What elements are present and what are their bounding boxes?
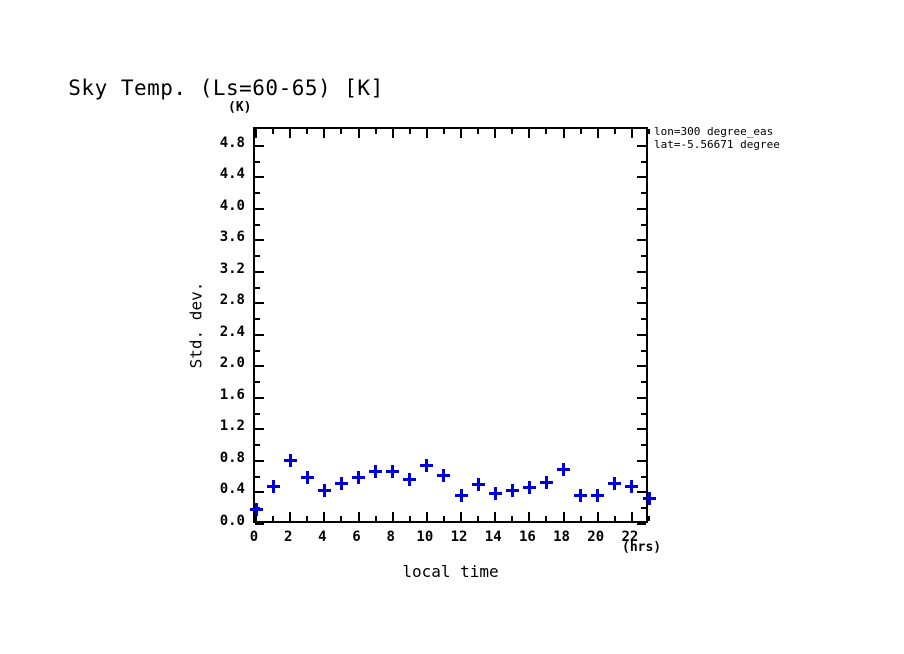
y-axis-tick bbox=[637, 523, 646, 525]
x-axis-minor-tick bbox=[580, 129, 582, 134]
y-axis-minor-tick bbox=[255, 381, 260, 383]
y-axis-tick bbox=[255, 239, 264, 241]
x-axis-minor-tick bbox=[614, 516, 616, 521]
y-axis-tick-label: 0.0 bbox=[201, 513, 245, 529]
y-axis-tick bbox=[637, 145, 646, 147]
y-axis-minor-tick bbox=[641, 444, 646, 446]
y-axis-minor-tick bbox=[641, 350, 646, 352]
y-axis-tick-label: 0.4 bbox=[201, 481, 245, 497]
x-axis-tick bbox=[494, 129, 496, 138]
data-point-marker bbox=[540, 476, 553, 489]
y-axis-minor-tick bbox=[255, 476, 260, 478]
y-axis-minor-tick bbox=[255, 161, 260, 163]
y-axis-tick bbox=[637, 397, 646, 399]
x-axis-minor-tick bbox=[375, 129, 377, 134]
data-point-marker bbox=[523, 481, 536, 494]
y-axis-minor-tick bbox=[255, 255, 260, 257]
data-point-marker bbox=[301, 471, 314, 484]
x-axis-tick bbox=[289, 512, 291, 521]
x-axis-tick bbox=[392, 512, 394, 521]
x-axis-minor-tick bbox=[272, 516, 274, 521]
x-axis-minor-tick bbox=[306, 129, 308, 134]
x-axis-tick bbox=[631, 512, 633, 521]
x-axis-minor-tick bbox=[272, 129, 274, 134]
x-axis-minor-tick bbox=[340, 516, 342, 521]
x-axis-tick bbox=[528, 129, 530, 138]
x-axis-tick bbox=[289, 129, 291, 138]
y-axis-tick bbox=[637, 491, 646, 493]
y-axis-minor-tick bbox=[641, 413, 646, 415]
x-axis-minor-tick bbox=[375, 516, 377, 521]
x-axis-minor-tick bbox=[443, 516, 445, 521]
y-axis-tick-label: 0.8 bbox=[201, 450, 245, 466]
x-axis-tick bbox=[358, 129, 360, 138]
x-axis-tick bbox=[563, 129, 565, 138]
y-axis-tick bbox=[255, 334, 264, 336]
annotation-line-lon: lon=300 degree_eas bbox=[654, 125, 904, 138]
x-axis-tick-label: 22 bbox=[600, 529, 660, 545]
y-axis-minor-tick bbox=[255, 444, 260, 446]
data-point-marker bbox=[591, 489, 604, 502]
x-axis-tick bbox=[426, 129, 428, 138]
x-axis-tick bbox=[323, 129, 325, 138]
data-point-marker bbox=[643, 492, 656, 505]
data-point-marker bbox=[472, 478, 485, 491]
data-point-marker bbox=[455, 489, 468, 502]
y-axis-minor-tick bbox=[641, 192, 646, 194]
y-axis-tick-label: 2.8 bbox=[201, 292, 245, 308]
y-axis-tick bbox=[255, 302, 264, 304]
x-axis-tick bbox=[597, 129, 599, 138]
page-title: Sky Temp. (Ls=60-65) [K] bbox=[0, 76, 904, 100]
data-point-marker bbox=[267, 480, 280, 493]
y-axis-tick bbox=[255, 428, 264, 430]
data-point-marker bbox=[352, 471, 365, 484]
x-axis-tick bbox=[255, 512, 257, 521]
y-axis-tick bbox=[637, 176, 646, 178]
y-axis-tick bbox=[255, 145, 264, 147]
x-axis-minor-tick bbox=[580, 516, 582, 521]
y-axis-minor-tick bbox=[641, 287, 646, 289]
data-point-marker bbox=[437, 469, 450, 482]
y-axis-tick-label: 4.8 bbox=[201, 135, 245, 151]
y-axis-tick bbox=[255, 460, 264, 462]
y-axis-tick-label: 1.2 bbox=[201, 418, 245, 434]
y-axis-tick bbox=[637, 302, 646, 304]
data-point-marker bbox=[386, 465, 399, 478]
x-axis-tick bbox=[528, 512, 530, 521]
y-axis-tick bbox=[255, 208, 264, 210]
y-axis-tick bbox=[255, 271, 264, 273]
x-axis-minor-tick bbox=[545, 516, 547, 521]
y-axis-minor-tick bbox=[255, 413, 260, 415]
data-point-marker bbox=[489, 487, 502, 500]
x-axis-minor-tick bbox=[477, 516, 479, 521]
y-axis-minor-tick bbox=[641, 507, 646, 509]
x-axis-tick bbox=[597, 512, 599, 521]
y-axis-tick-label: 1.6 bbox=[201, 387, 245, 403]
y-axis-unit-label: (K) bbox=[228, 100, 251, 115]
x-axis-minor-tick bbox=[511, 516, 513, 521]
x-axis-minor-tick bbox=[545, 129, 547, 134]
x-axis-minor-tick bbox=[409, 129, 411, 134]
y-axis-minor-tick bbox=[255, 507, 260, 509]
y-axis-tick-label: 2.0 bbox=[201, 355, 245, 371]
y-axis-tick bbox=[637, 334, 646, 336]
data-point-marker bbox=[608, 477, 621, 490]
y-axis-tick-label: 4.0 bbox=[201, 198, 245, 214]
x-axis-tick bbox=[323, 512, 325, 521]
y-axis-minor-tick bbox=[641, 381, 646, 383]
y-axis-tick bbox=[637, 239, 646, 241]
x-axis-title: local time bbox=[253, 562, 648, 581]
data-point-marker bbox=[506, 484, 519, 497]
y-axis-minor-tick bbox=[641, 255, 646, 257]
x-axis-minor-tick bbox=[614, 129, 616, 134]
x-axis-tick bbox=[426, 512, 428, 521]
y-axis-tick bbox=[255, 365, 264, 367]
x-axis-tick bbox=[358, 512, 360, 521]
y-axis-tick bbox=[637, 365, 646, 367]
data-point-marker bbox=[574, 489, 587, 502]
x-axis-minor-tick bbox=[477, 129, 479, 134]
y-axis-minor-tick bbox=[641, 224, 646, 226]
x-axis-minor-tick bbox=[648, 129, 650, 134]
data-point-marker bbox=[335, 477, 348, 490]
plot-annotation: lon=300 degree_eas lat=-5.56671 degree bbox=[654, 125, 904, 151]
y-axis-tick-label: 3.6 bbox=[201, 229, 245, 245]
data-point-marker bbox=[557, 463, 570, 476]
y-axis-minor-tick bbox=[641, 161, 646, 163]
y-axis-tick-label: 2.4 bbox=[201, 324, 245, 340]
y-axis-tick bbox=[255, 176, 264, 178]
data-point-marker bbox=[284, 454, 297, 467]
y-axis-tick bbox=[637, 460, 646, 462]
annotation-line-lat: lat=-5.56671 degree bbox=[654, 138, 904, 151]
plot-frame bbox=[253, 127, 648, 523]
x-axis-tick bbox=[631, 129, 633, 138]
y-axis-minor-tick bbox=[255, 318, 260, 320]
x-axis-tick bbox=[494, 512, 496, 521]
data-point-marker bbox=[420, 459, 433, 472]
x-axis-minor-tick bbox=[443, 129, 445, 134]
y-axis-minor-tick bbox=[255, 192, 260, 194]
x-axis-tick bbox=[563, 512, 565, 521]
y-axis-tick-label: 3.2 bbox=[201, 261, 245, 277]
x-axis-tick bbox=[255, 129, 257, 138]
y-axis-tick bbox=[637, 428, 646, 430]
chart-page: Sky Temp. (Ls=60-65) [K] (K) Std. dev. l… bbox=[0, 0, 904, 654]
y-axis-minor-tick bbox=[255, 350, 260, 352]
x-axis-minor-tick bbox=[648, 516, 650, 521]
y-axis-tick bbox=[255, 523, 264, 525]
y-axis-tick bbox=[255, 397, 264, 399]
data-point-marker bbox=[318, 484, 331, 497]
y-axis-minor-tick bbox=[641, 318, 646, 320]
x-axis-minor-tick bbox=[409, 516, 411, 521]
x-axis-minor-tick bbox=[511, 129, 513, 134]
y-axis-tick bbox=[255, 491, 264, 493]
data-point-marker bbox=[403, 473, 416, 486]
x-axis-minor-tick bbox=[340, 129, 342, 134]
x-axis-minor-tick bbox=[306, 516, 308, 521]
x-axis-tick bbox=[460, 512, 462, 521]
y-axis-minor-tick bbox=[255, 224, 260, 226]
y-axis-tick bbox=[637, 271, 646, 273]
y-axis-minor-tick bbox=[255, 287, 260, 289]
data-point-marker bbox=[369, 465, 382, 478]
y-axis-tick-label: 4.4 bbox=[201, 166, 245, 182]
x-axis-tick bbox=[460, 129, 462, 138]
x-axis-tick bbox=[392, 129, 394, 138]
y-axis-tick bbox=[637, 208, 646, 210]
y-axis-minor-tick bbox=[641, 476, 646, 478]
